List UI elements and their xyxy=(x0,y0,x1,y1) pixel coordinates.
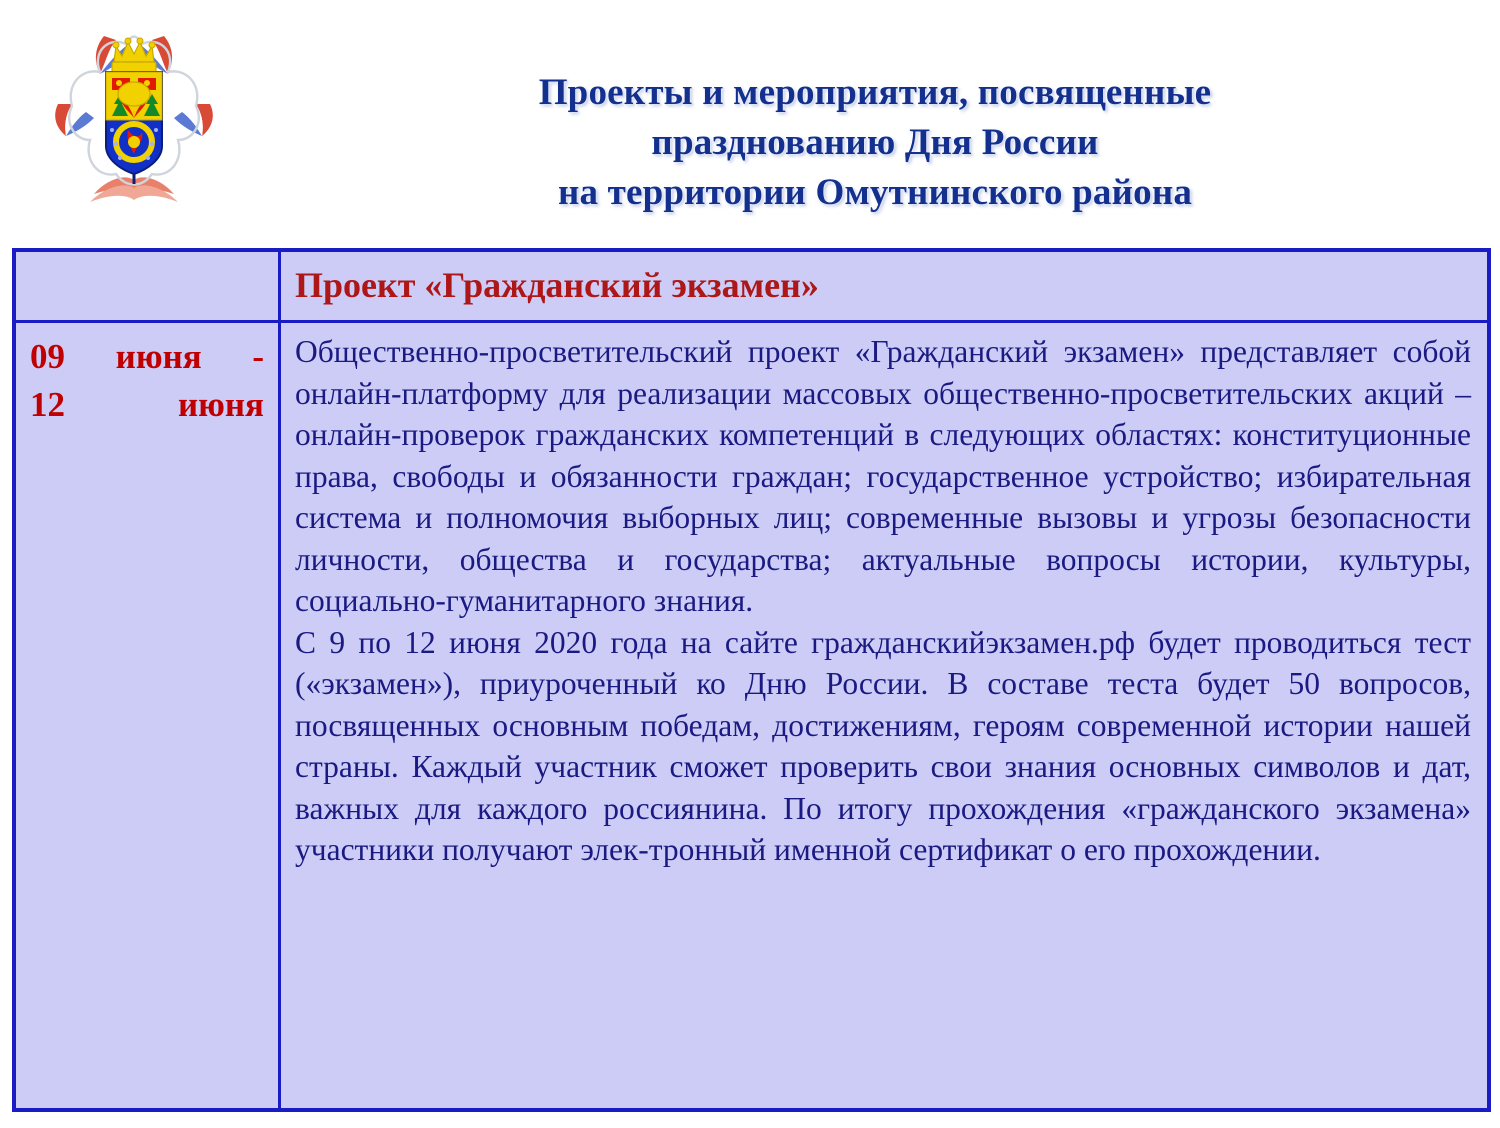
date-range-line-2: 12 июня xyxy=(30,381,264,429)
table-header-row: Проект «Гражданский экзамен» xyxy=(14,250,1489,322)
omutninsky-district-coat-of-arms-icon xyxy=(42,18,226,218)
cell-description: Общественно-просветительский проект «Гра… xyxy=(280,322,1490,1111)
page-title: Проекты и мероприятия, посвященные празд… xyxy=(400,68,1350,218)
description-paragraph-2: С 9 по 12 июня 2020 года на сайте гражда… xyxy=(295,622,1471,871)
date-range: 09 июня - 12 июня xyxy=(16,323,278,429)
events-table: Проект «Гражданский экзамен» 09 июня - 1… xyxy=(12,248,1491,1112)
page-title-line-3: на территории Омутнинского района xyxy=(400,168,1350,218)
description-paragraph-1: Общественно-просветительский проект «Гра… xyxy=(295,331,1471,622)
header-cell-project: Проект «Гражданский экзамен» xyxy=(280,250,1490,322)
date-range-line-1: 09 июня - xyxy=(30,333,264,381)
page-title-line-2: празднованию Дня России xyxy=(400,118,1350,168)
project-title: Проект «Гражданский экзамен» xyxy=(281,252,1487,305)
cell-date-range: 09 июня - 12 июня xyxy=(14,322,280,1111)
table-row: 09 июня - 12 июня Общественно-просветите… xyxy=(14,322,1489,1111)
description-text: Общественно-просветительский проект «Гра… xyxy=(281,323,1487,877)
header-cell-date xyxy=(14,250,280,322)
page-title-line-1: Проекты и мероприятия, посвященные xyxy=(400,68,1350,118)
slide-header: Проекты и мероприятия, посвященные празд… xyxy=(0,0,1500,240)
